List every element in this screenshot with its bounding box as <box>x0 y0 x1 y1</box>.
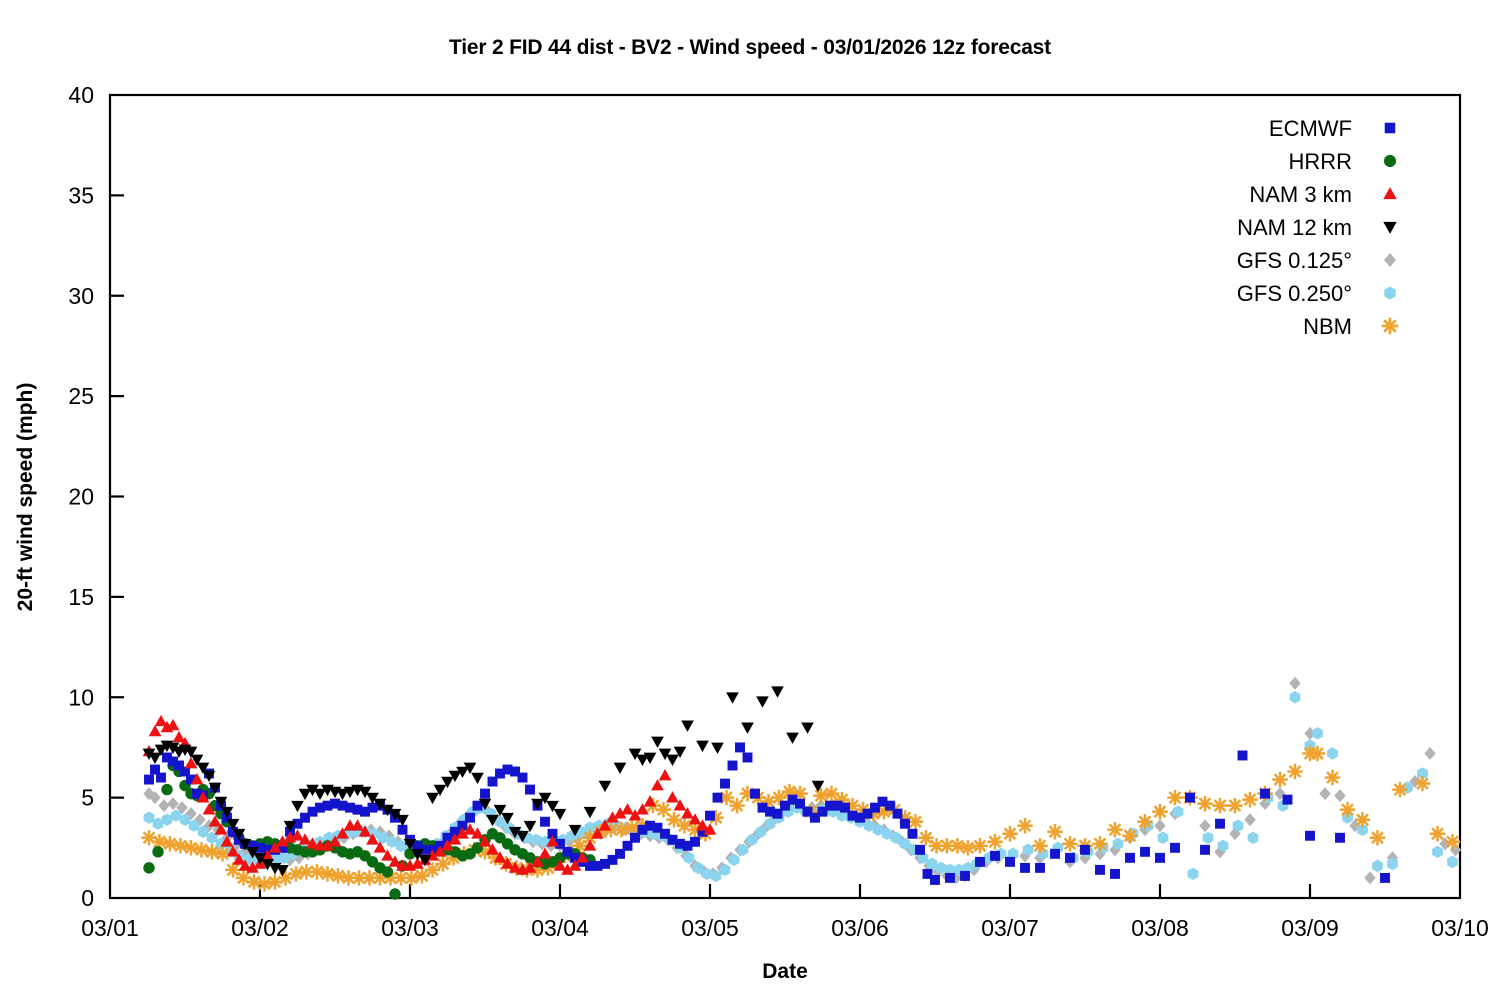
data-point <box>1283 795 1293 805</box>
data-point <box>1188 868 1199 880</box>
y-tick-label: 20 <box>68 484 94 510</box>
data-point <box>1170 843 1180 853</box>
x-tick-label: 03/06 <box>831 915 889 941</box>
data-point <box>1290 691 1301 703</box>
data-point <box>741 723 754 734</box>
data-point <box>426 793 439 804</box>
x-tick-label: 03/05 <box>681 915 739 941</box>
x-tick-label: 03/07 <box>981 915 1039 941</box>
data-point <box>1310 746 1326 762</box>
x-tick-label: 03/01 <box>81 915 139 941</box>
x-axis-title: Date <box>762 960 808 983</box>
data-point <box>158 799 169 812</box>
y-tick-label: 0 <box>81 885 94 911</box>
data-point <box>1002 826 1018 842</box>
data-point <box>1125 853 1135 863</box>
data-point <box>960 840 976 856</box>
data-point <box>156 773 166 783</box>
data-point <box>584 807 597 818</box>
data-point <box>1430 826 1446 842</box>
data-point <box>735 742 745 752</box>
data-point <box>1260 789 1270 799</box>
data-point <box>149 725 162 736</box>
legend-item-nbm[interactable]: NBM <box>1303 314 1398 339</box>
legend-label-hrrr: HRRR <box>1288 149 1352 174</box>
data-point <box>1137 814 1153 830</box>
data-point <box>1272 772 1288 788</box>
data-point <box>1017 818 1033 834</box>
legend-marker-ecmwf <box>1385 123 1396 134</box>
data-point <box>1095 865 1105 875</box>
y-axis-title: 20-ft wind speed (mph) <box>14 383 37 612</box>
legend-label-gfs-0-125: GFS 0.125° <box>1237 248 1352 273</box>
chart-legend: ECMWFHRRRNAM 3 kmNAM 12 kmGFS 0.125°GFS … <box>1237 116 1398 339</box>
legend-marker-nam-3-km <box>1383 187 1396 199</box>
data-point <box>554 809 567 820</box>
data-point <box>599 781 612 792</box>
data-point <box>666 791 679 802</box>
data-point <box>276 865 289 876</box>
series-nbm <box>141 746 1460 892</box>
chart-page: Tier 2 FID 44 dist - BV2 - Wind speed - … <box>0 0 1500 1000</box>
y-tick-label: 5 <box>81 785 94 811</box>
data-point <box>644 795 657 806</box>
data-point <box>1035 863 1045 873</box>
data-point <box>1447 856 1458 868</box>
data-point <box>1355 812 1371 828</box>
data-point <box>651 737 664 748</box>
legend-marker-nam-12-km <box>1383 222 1396 234</box>
data-point <box>728 761 738 771</box>
data-point <box>1110 869 1120 879</box>
data-point <box>1380 873 1390 883</box>
legend-label-nbm: NBM <box>1303 314 1352 339</box>
legend-item-nam-12-km[interactable]: NAM 12 km <box>1237 215 1397 240</box>
data-point <box>1340 802 1356 818</box>
data-point <box>143 862 154 873</box>
data-point <box>1364 871 1375 884</box>
data-point <box>540 817 550 827</box>
data-point <box>144 775 154 785</box>
data-point <box>918 830 934 846</box>
data-point <box>812 781 825 792</box>
data-point <box>1212 798 1228 814</box>
data-point <box>614 763 627 774</box>
data-point <box>771 686 784 697</box>
y-tick-label: 15 <box>68 584 94 610</box>
legend-label-gfs-0-250: GFS 0.250° <box>1237 281 1352 306</box>
legend-label-ecmwf: ECMWF <box>1269 116 1352 141</box>
x-tick-label: 03/10 <box>1431 915 1489 941</box>
data-point <box>987 834 1003 850</box>
data-point <box>1005 857 1015 867</box>
data-point <box>161 784 172 795</box>
data-point <box>1197 796 1213 812</box>
data-point <box>990 851 1000 861</box>
data-point <box>1158 832 1169 844</box>
y-tick-label: 30 <box>68 283 94 309</box>
legend-item-gfs-0-250[interactable]: GFS 0.250° <box>1237 281 1396 306</box>
x-tick-label: 03/08 <box>1131 915 1189 941</box>
data-point <box>743 753 753 763</box>
data-point <box>1319 787 1330 800</box>
data-point <box>666 755 679 766</box>
data-point <box>975 857 985 867</box>
data-point <box>1334 789 1345 802</box>
data-point <box>1445 834 1461 850</box>
legend-item-nam-3-km[interactable]: NAM 3 km <box>1249 182 1396 207</box>
data-point <box>1325 770 1341 786</box>
data-point <box>801 723 814 734</box>
data-point <box>651 779 664 790</box>
data-point <box>1140 847 1150 857</box>
data-point <box>1215 819 1225 829</box>
data-point <box>152 846 163 857</box>
data-point <box>480 789 490 799</box>
y-tick-label: 35 <box>68 182 94 208</box>
data-point <box>915 845 925 855</box>
data-point <box>900 819 910 829</box>
data-points-layer <box>141 677 1461 900</box>
data-point <box>960 871 970 881</box>
data-point <box>215 846 231 862</box>
data-point <box>696 741 709 752</box>
data-point <box>518 773 528 783</box>
legend-marker-gfs-0-250 <box>1384 286 1395 299</box>
data-point <box>149 753 162 764</box>
data-point <box>1122 828 1138 844</box>
data-point <box>1244 813 1255 826</box>
y-tick-label: 25 <box>68 383 94 409</box>
legend-marker-hrrr <box>1384 155 1396 167</box>
x-tick-label: 03/09 <box>1281 915 1339 941</box>
legend-item-gfs-0-125[interactable]: GFS 0.125° <box>1237 248 1396 273</box>
data-point <box>1050 849 1060 859</box>
data-point <box>1305 831 1315 841</box>
data-point <box>945 873 955 883</box>
data-point <box>1062 836 1078 852</box>
data-point <box>711 743 724 754</box>
data-point <box>690 837 700 847</box>
data-point <box>1200 845 1210 855</box>
data-point <box>786 733 799 744</box>
data-point <box>1032 838 1048 854</box>
data-point <box>756 696 769 707</box>
data-point <box>389 888 400 899</box>
data-point <box>1167 790 1183 806</box>
legend-label-nam-12-km: NAM 12 km <box>1237 215 1352 240</box>
x-tick-label: 03/02 <box>231 915 289 941</box>
data-point <box>908 814 924 830</box>
data-point <box>1020 863 1030 873</box>
data-point <box>1432 846 1443 858</box>
data-point <box>398 825 408 835</box>
data-point <box>524 821 537 832</box>
data-point <box>1248 832 1259 844</box>
data-point <box>726 692 739 703</box>
data-point <box>1370 830 1386 846</box>
data-point <box>1152 804 1168 820</box>
data-point <box>720 779 730 789</box>
data-point <box>1155 853 1165 863</box>
legend-marker-nbm <box>1382 318 1399 335</box>
data-point <box>1424 747 1435 760</box>
data-point <box>1107 822 1123 838</box>
y-axis-ticks: 0510152025303540 <box>68 82 124 911</box>
data-point <box>1080 845 1090 855</box>
data-point <box>729 798 745 814</box>
data-point <box>1065 853 1075 863</box>
data-point <box>750 789 760 799</box>
data-point <box>1238 751 1248 761</box>
legend-item-hrrr[interactable]: HRRR <box>1288 149 1396 174</box>
x-tick-label: 03/04 <box>531 915 589 941</box>
x-axis-ticks: 03/0103/0203/0303/0403/0503/0603/0703/08… <box>81 884 1489 941</box>
y-tick-label: 40 <box>68 82 94 108</box>
data-point <box>1312 727 1323 739</box>
legend-marker-gfs-0-125 <box>1384 253 1396 267</box>
data-point <box>1335 833 1345 843</box>
x-tick-label: 03/03 <box>381 915 439 941</box>
y-tick-label: 10 <box>68 684 94 710</box>
data-point <box>471 773 484 784</box>
data-point <box>465 813 475 823</box>
data-point <box>1327 747 1338 759</box>
data-point <box>713 793 723 803</box>
legend-item-ecmwf[interactable]: ECMWF <box>1269 116 1395 141</box>
data-point <box>972 838 988 854</box>
data-point <box>705 811 715 821</box>
legend-label-nam-3-km: NAM 3 km <box>1249 182 1352 207</box>
data-point <box>681 721 694 732</box>
data-point <box>1242 792 1258 808</box>
data-point <box>1092 836 1108 852</box>
data-point <box>525 785 535 795</box>
data-point <box>930 875 940 885</box>
data-point <box>1199 819 1210 832</box>
data-point <box>1372 860 1383 872</box>
data-point <box>1185 793 1195 803</box>
data-point <box>621 803 634 814</box>
series-ecmwf <box>144 742 1390 884</box>
data-point <box>1203 832 1214 844</box>
data-point <box>382 866 393 877</box>
data-point <box>1227 798 1243 814</box>
data-point <box>1047 824 1063 840</box>
data-point <box>291 801 304 812</box>
data-point <box>1154 819 1165 832</box>
data-point <box>1287 764 1303 780</box>
data-point <box>908 829 918 839</box>
data-point <box>1289 677 1300 690</box>
data-point <box>1392 782 1408 798</box>
data-point <box>893 809 903 819</box>
data-point <box>659 769 672 780</box>
data-point <box>1415 776 1431 792</box>
wind-speed-scatter-chart: 0510152025303540 03/0103/0203/0303/0403/… <box>0 0 1500 1000</box>
